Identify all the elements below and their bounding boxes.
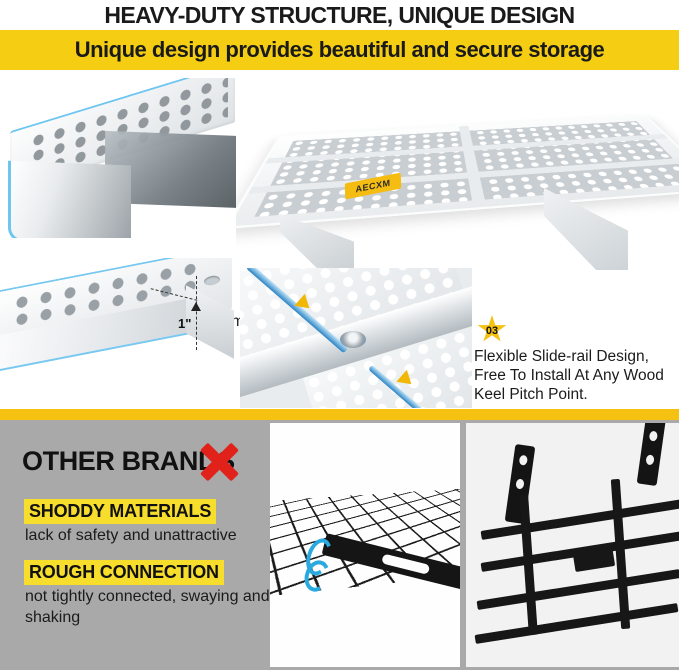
- shelf-deck: [236, 115, 679, 230]
- subtitle-bar: Unique design provides beautiful and sec…: [0, 30, 679, 70]
- drawback-2-description: not tightly connected, swaying and shaki…: [25, 586, 275, 628]
- dimension-line: [196, 276, 197, 350]
- bracket-hole: [645, 454, 654, 465]
- other-brands-section: OTHER BRANDS SHODDY MATERIALS lack of sa…: [0, 420, 679, 670]
- feature-03-number: 03: [486, 322, 498, 337]
- feature-03-image: [240, 268, 472, 408]
- shelf-bracket: [280, 214, 354, 274]
- rack-bar: [477, 569, 679, 610]
- bracket-hole: [519, 455, 528, 466]
- competitor-rack-connection-image: [466, 423, 679, 667]
- drawback-1-heading: SHODDY MATERIALS: [24, 499, 216, 524]
- panel-folded-edge: [8, 161, 131, 238]
- bracket-hole: [649, 431, 658, 442]
- drawback-1-description: lack of safety and unattractive: [25, 525, 275, 546]
- folded-panel-render: [10, 78, 236, 238]
- dimension-arrow-icon: [191, 302, 201, 311]
- page-title: HEAVY-DUTY STRUCTURE, UNIQUE DESIGN: [0, 0, 679, 30]
- rack-bar: [475, 603, 679, 644]
- shelf-hero-image: [236, 76, 679, 276]
- section-divider: [0, 409, 679, 420]
- page-subtitle: Unique design provides beautiful and sec…: [75, 37, 605, 63]
- feature-02-image: 1": [0, 258, 236, 386]
- product-infographic: HEAVY-DUTY STRUCTURE, UNIQUE DESIGN Uniq…: [0, 0, 679, 670]
- x-mark-icon: [196, 442, 244, 482]
- frame-thickness-label: 1": [178, 316, 191, 331]
- feature-01-image: [0, 78, 236, 238]
- feature-03-star-icon: 03: [477, 315, 507, 344]
- features-section: 01 One-piece Folding And Forming 1" 02 T…: [0, 70, 679, 415]
- screw-head: [340, 331, 366, 348]
- feature-03-label: Flexible Slide-rail Design, Free To Inst…: [474, 347, 674, 404]
- drawback-2-heading: ROUGH CONNECTION: [24, 560, 224, 585]
- competitor-wire-rack-image: [270, 423, 460, 667]
- wall-bracket: [637, 423, 668, 486]
- rack-cross-bar: [611, 479, 630, 629]
- bracket-hole: [515, 478, 524, 489]
